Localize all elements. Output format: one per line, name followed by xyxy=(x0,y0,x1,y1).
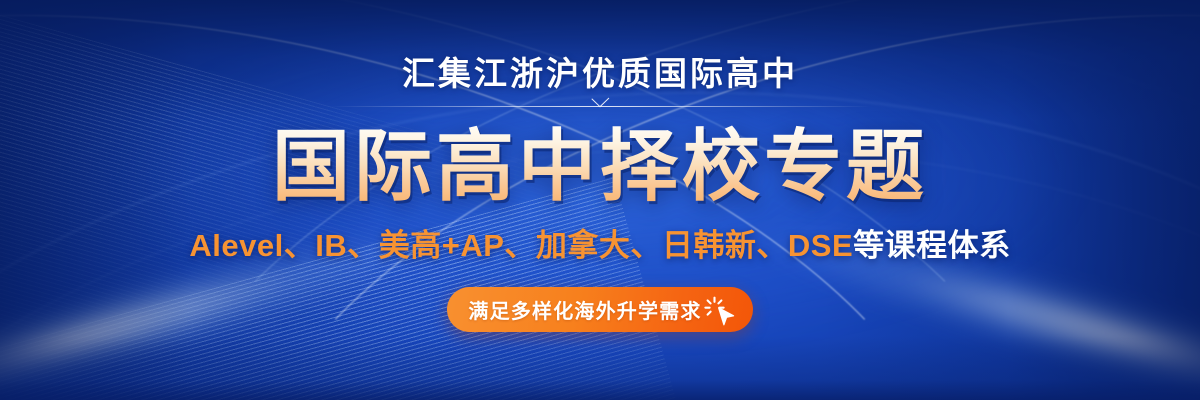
promo-banner: 汇集江浙沪优质国际高中 国际高中择校专题 Alevel、IB、美高+AP、加拿大… xyxy=(0,0,1200,400)
cta-button[interactable]: 满足多样化海外升学需求 xyxy=(447,287,753,332)
banner-subtitle: Alevel、IB、美高+AP、加拿大、日韩新、DSE等课程体系 xyxy=(189,220,1010,265)
chevron-down-icon xyxy=(590,106,610,116)
banner-headline: 汇集江浙沪优质国际高中 xyxy=(402,54,798,94)
cta-button-label: 满足多样化海外升学需求 xyxy=(468,295,701,324)
headline-divider xyxy=(330,102,870,118)
cursor-click-icon xyxy=(703,293,739,329)
banner-content: 汇集江浙沪优质国际高中 国际高中择校专题 Alevel、IB、美高+AP、加拿大… xyxy=(0,0,1200,400)
subtitle-plain-text: 等课程体系 xyxy=(853,228,1011,263)
subtitle-accent-text: Alevel、IB、美高+AP、加拿大、日韩新、DSE xyxy=(189,228,853,263)
banner-title: 国际高中择校专题 xyxy=(272,124,928,208)
